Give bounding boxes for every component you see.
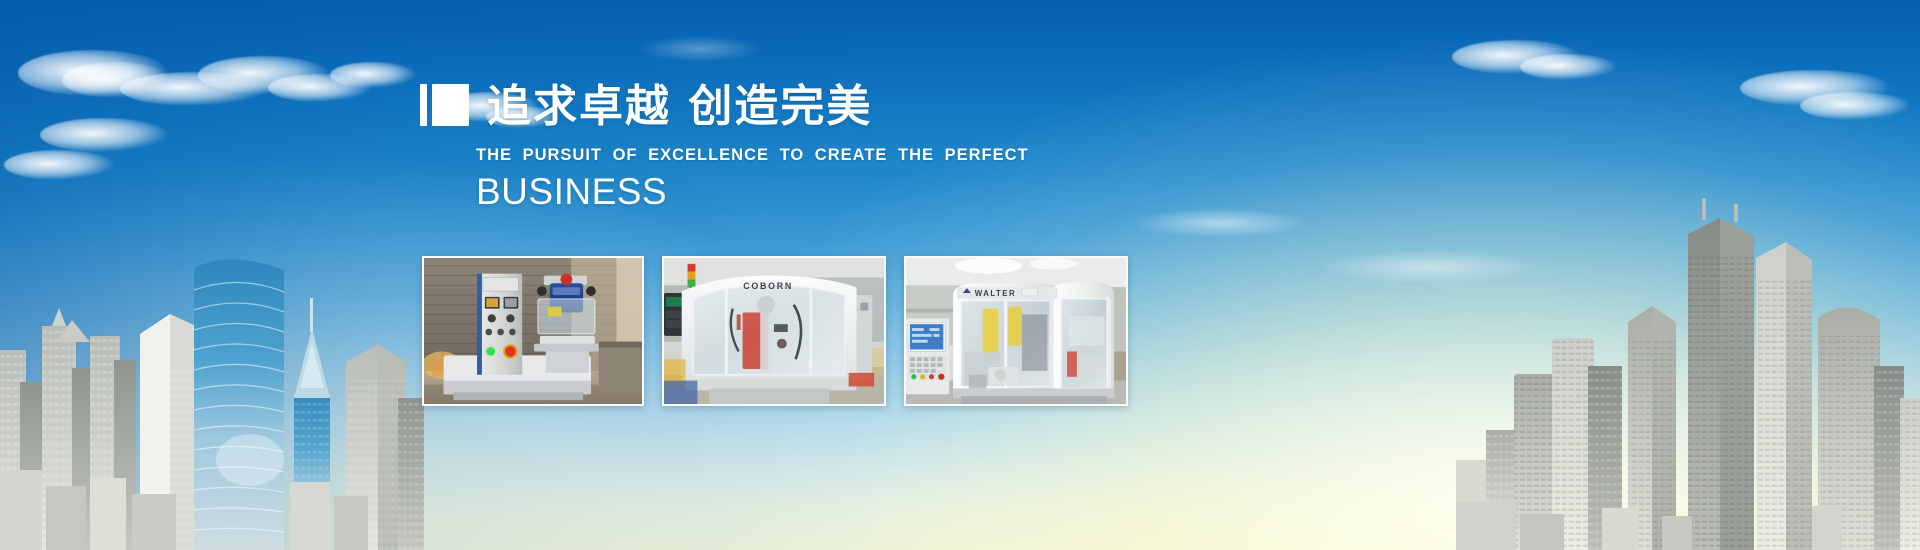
- svg-text:WALTER: WALTER: [975, 289, 1016, 298]
- headline-chinese: 追求卓越 创造完美: [487, 85, 872, 129]
- cloud-icon: [40, 118, 168, 152]
- cloud-icon: [1800, 92, 1910, 120]
- photo-walter-machine[interactable]: WALTER: [904, 256, 1128, 406]
- photo-coborn-machine[interactable]: COBORN: [662, 256, 886, 406]
- cloud-icon: [330, 62, 416, 88]
- cloud-icon: [4, 150, 114, 180]
- promo-banner: 追求卓越 创造完美 THE PURSUIT OF EXCELLENCE TO C…: [0, 0, 1920, 550]
- cloud-icon: [1320, 250, 1540, 284]
- cloud-icon: [1520, 54, 1616, 80]
- photo-cnc-grinding-machine[interactable]: [422, 256, 644, 406]
- headline-block: 追求卓越 创造完美 THE PURSUIT OF EXCELLENCE TO C…: [420, 84, 1120, 212]
- headline-row: 追求卓越 创造完美: [420, 84, 1120, 130]
- business-wordmark: BUSINESS: [476, 173, 1120, 212]
- cloud-icon: [640, 36, 760, 62]
- subtitle-english: THE PURSUIT OF EXCELLENCE TO CREATE THE …: [476, 146, 1120, 165]
- mark-square-icon: [432, 84, 469, 126]
- cloud-icon: [1130, 208, 1310, 238]
- machine-photo-strip: COBORN: [422, 256, 1128, 406]
- mark-bar-icon: [420, 84, 427, 126]
- svg-text:COBORN: COBORN: [743, 281, 793, 291]
- bar-square-mark-icon: [420, 84, 469, 126]
